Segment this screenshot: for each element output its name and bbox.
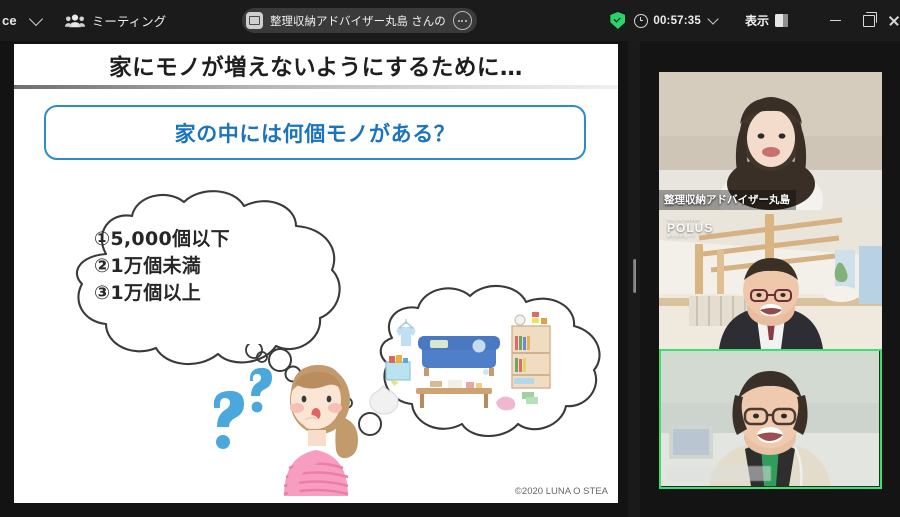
chevron-down-icon[interactable]	[29, 11, 43, 25]
video-tile[interactable]: POLUS GROUP POLUS ポラスグループ	[659, 210, 882, 349]
more-options-icon[interactable]	[453, 11, 472, 30]
question-mark-icon	[214, 368, 272, 449]
meeting-menu-button[interactable]: ミーティング	[65, 11, 166, 30]
thinking-woman-illustration	[192, 344, 372, 499]
green-shield-check-icon[interactable]	[610, 12, 625, 29]
titlebar-right-group: 00:57:35 表示	[610, 0, 900, 41]
participant-name-badge-blurred	[667, 466, 771, 481]
shared-screen-stage[interactable]: 家にモノが増えないようにするために… 家の中には何個モノがある？ ①5,000個…	[0, 41, 628, 517]
meeting-app-window: ce ミーティング 整理収納アドバイ	[0, 0, 900, 517]
minimize-icon	[830, 20, 841, 22]
screen-share-indicator: 整理収納アドバイザー丸島 さんの	[242, 8, 477, 33]
timer-chevron-down-icon[interactable]	[707, 13, 718, 24]
org-name-label: ce	[0, 13, 17, 28]
video-tile[interactable]: 整理収納アドバイザー丸島	[659, 72, 882, 210]
share-pill[interactable]: 整理収納アドバイザー丸島 さんの	[242, 8, 477, 33]
polus-watermark: POLUS GROUP POLUS ポラスグループ	[667, 218, 713, 239]
close-icon	[888, 15, 899, 26]
question-box-label: 家の中には何個モノがある？	[175, 118, 456, 148]
people-icon	[65, 13, 85, 29]
screen-share-icon	[246, 12, 263, 29]
share-pill-label: 整理収納アドバイザー丸島 さんの	[270, 13, 446, 29]
answer-options: ①5,000個以下 ②1万個未満 ③1万個以上	[94, 226, 344, 307]
clock-icon	[634, 14, 648, 28]
participants-video-panel: 整理収納アドバイザー丸島	[640, 41, 900, 517]
restore-icon	[863, 15, 875, 27]
thought-bubble-room-illustration	[344, 276, 609, 451]
page-title: 家にモノが増えないようにするために…	[14, 50, 618, 82]
layout-icon	[775, 14, 788, 27]
meeting-label: ミーティング	[92, 11, 166, 30]
restore-button[interactable]	[852, 0, 886, 41]
question-box: 家の中には何個モノがある？	[44, 105, 586, 160]
list-item: ①5,000個以下	[94, 226, 344, 253]
view-button[interactable]: 表示	[745, 12, 788, 29]
titlebar-left-group: ce ミーティング	[0, 0, 166, 41]
title-divider	[14, 85, 618, 89]
minimize-button[interactable]	[818, 0, 852, 41]
view-label: 表示	[745, 12, 769, 29]
window-controls	[818, 0, 900, 41]
copyright-notice: ©2020 LUNA O STEA	[515, 486, 608, 497]
list-item: ②1万個未満	[94, 253, 344, 280]
participant-name-badge: 整理収納アドバイザー丸島	[659, 190, 796, 210]
list-item: ③1万個以上	[94, 280, 344, 307]
meeting-timer: 00:57:35	[653, 15, 701, 27]
presentation-slide: 家にモノが増えないようにするために… 家の中には何個モノがある？ ①5,000個…	[14, 44, 618, 503]
close-button[interactable]	[886, 0, 900, 41]
panel-splitter[interactable]	[628, 41, 640, 517]
video-tile-active-speaker[interactable]	[659, 349, 882, 489]
title-bar: ce ミーティング 整理収納アドバイ	[0, 0, 900, 41]
drag-handle-icon[interactable]	[633, 259, 636, 293]
